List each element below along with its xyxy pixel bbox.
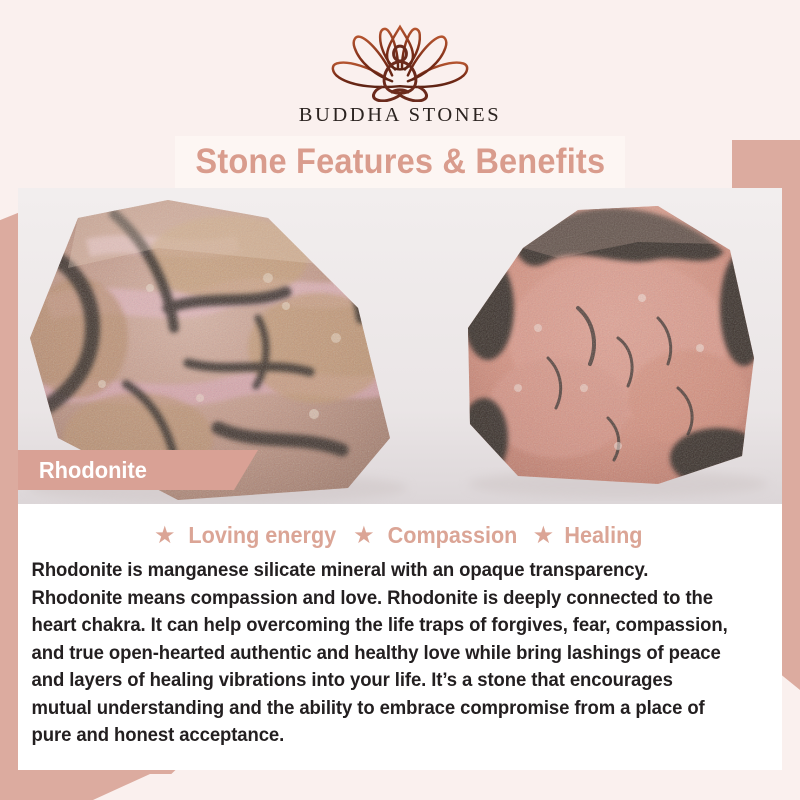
lotus-meditation-icon bbox=[325, 18, 475, 102]
description-panel: ★ Loving energy ★ Compassion ★ Healing R… bbox=[18, 504, 782, 770]
page-title: Stone Features & Benefits bbox=[195, 142, 605, 182]
stone-description-text: Rhodonite is manganese silicate mineral … bbox=[22, 557, 744, 750]
title-banner: Stone Features & Benefits bbox=[175, 136, 625, 188]
benefit-label: Compassion bbox=[387, 522, 517, 549]
benefit-label: Loving energy bbox=[189, 522, 337, 549]
poster-canvas: BUDDHA STONES Stone Features & Benefits bbox=[0, 0, 800, 800]
benefit-keyword-healing: ★ Healing bbox=[533, 522, 646, 549]
star-icon: ★ bbox=[353, 524, 375, 548]
benefit-label: Healing bbox=[565, 522, 643, 549]
stone-name-label: Rhodonite bbox=[18, 457, 147, 484]
brand-name: BUDDHA STONES bbox=[299, 104, 502, 127]
star-icon: ★ bbox=[533, 524, 555, 548]
benefit-keyword-loving-energy: ★ Loving energy bbox=[154, 522, 343, 549]
benefit-keyword-compassion: ★ Compassion bbox=[353, 522, 523, 549]
benefit-keyword-row: ★ Loving energy ★ Compassion ★ Healing bbox=[22, 522, 778, 549]
stone-name-badge: Rhodonite bbox=[18, 450, 258, 490]
brand-header: BUDDHA STONES bbox=[0, 0, 800, 140]
star-icon: ★ bbox=[154, 524, 176, 548]
